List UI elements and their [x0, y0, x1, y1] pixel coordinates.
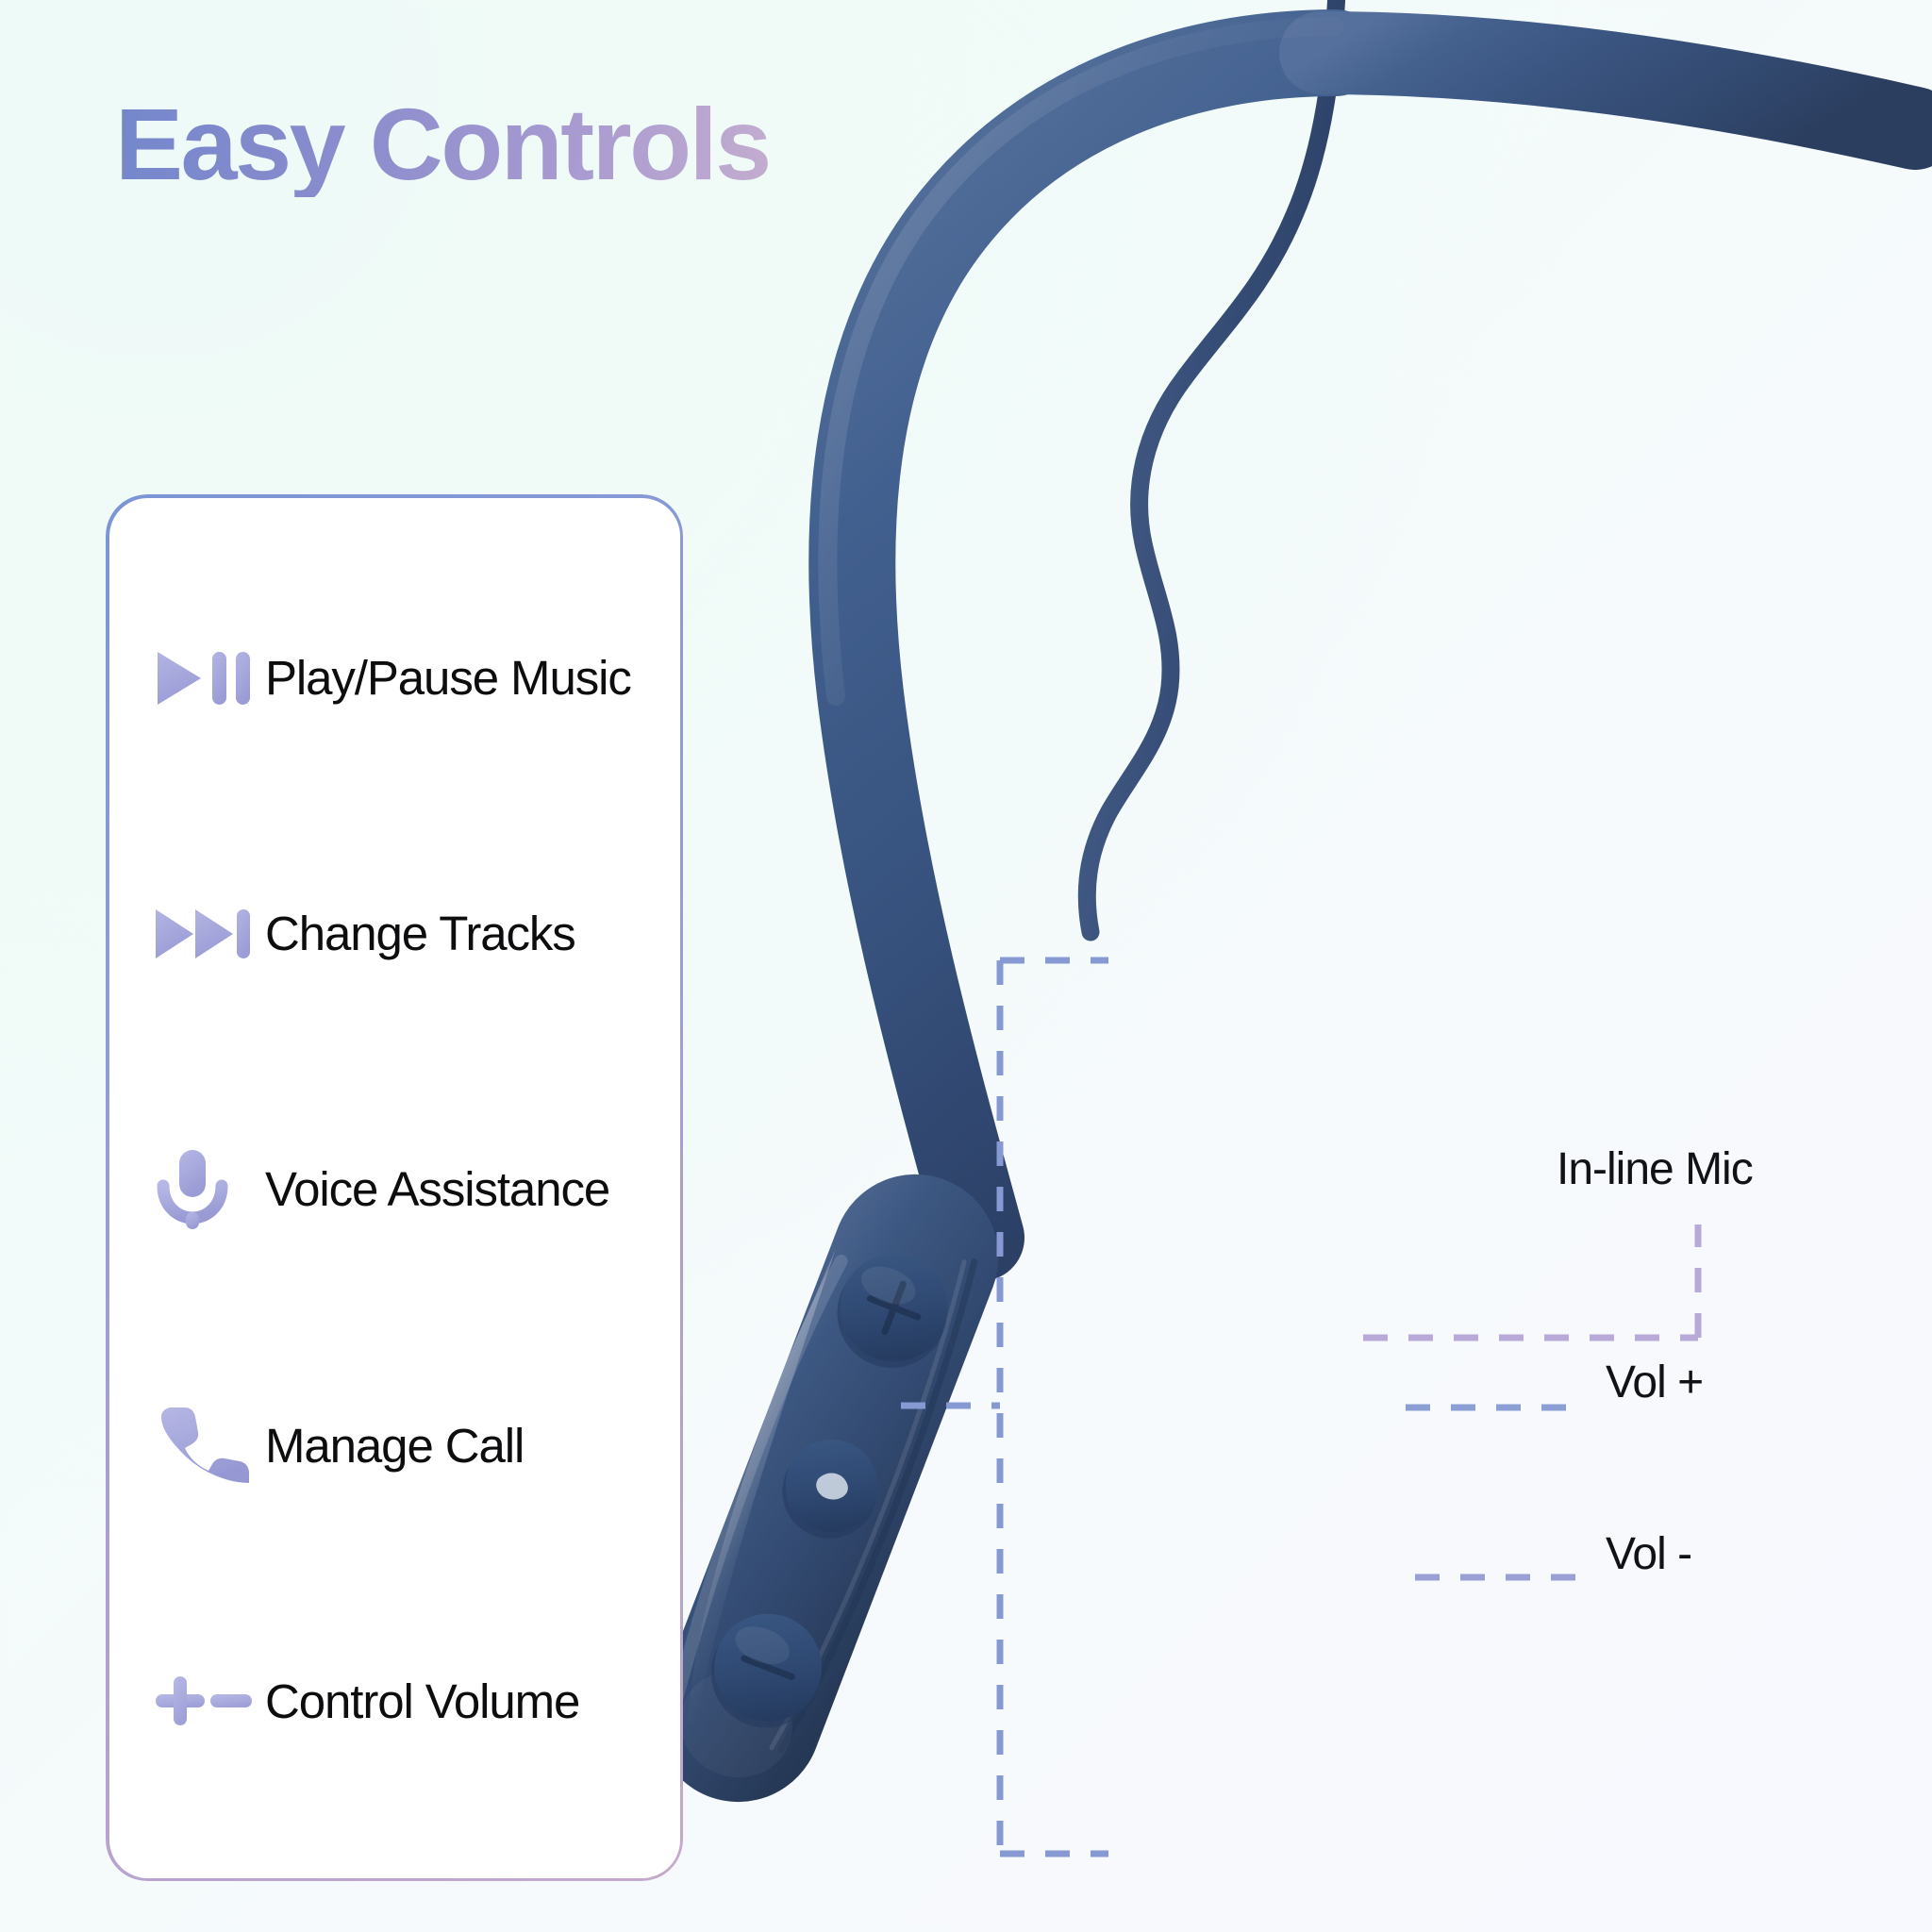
- play-pause-icon: [154, 641, 265, 716]
- page-title: Easy Controls: [115, 91, 770, 197]
- feature-card: Play/Pause Music Change Tracks: [106, 494, 683, 1881]
- product-illustration-neckband-earphones: [660, 0, 1932, 1932]
- vol-minus-button-physical: [695, 1598, 839, 1744]
- list-item[interactable]: Control Volume: [108, 1649, 680, 1753]
- inline-mic-connector: [1363, 1224, 1698, 1338]
- list-item-label: Change Tracks: [265, 906, 575, 961]
- list-item-label: Play/Pause Music: [265, 650, 631, 706]
- list-item[interactable]: Voice Assistance: [108, 1138, 680, 1241]
- callout-label-vol-minus: Vol -: [1606, 1528, 1691, 1580]
- list-item[interactable]: Play/Pause Music: [108, 626, 680, 730]
- plus-minus-icon: [154, 1663, 265, 1739]
- feature-list: Play/Pause Music Change Tracks: [108, 497, 680, 1878]
- card-to-product-bracket: [901, 960, 1108, 1854]
- list-item[interactable]: Manage Call: [108, 1393, 680, 1497]
- vol-plus-button-physical: [822, 1238, 965, 1384]
- next-track-icon: [154, 896, 265, 972]
- callout-label-vol-plus: Vol +: [1606, 1357, 1703, 1408]
- inline-mic-port-physical: [769, 1426, 892, 1553]
- list-item-label: Manage Call: [265, 1418, 524, 1474]
- callout-label-inline-mic: In-line Mic: [1557, 1143, 1753, 1195]
- list-item-label: Control Volume: [265, 1674, 579, 1729]
- microphone-icon: [154, 1152, 265, 1227]
- list-item-label: Voice Assistance: [265, 1161, 609, 1217]
- list-item[interactable]: Change Tracks: [108, 882, 680, 986]
- phone-handset-icon: [154, 1407, 265, 1483]
